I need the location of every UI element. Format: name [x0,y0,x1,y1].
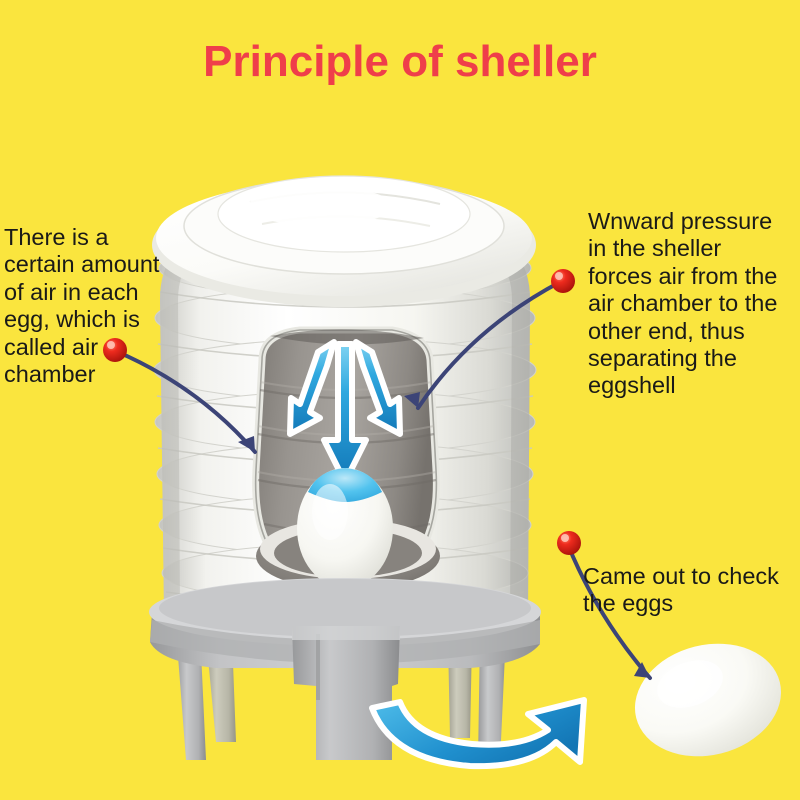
marker-downward-pressure [551,269,575,293]
peeled-egg [623,629,793,772]
callout-came-out: Came out to check the eggs [583,563,798,618]
marker-came-out [557,531,581,555]
sheller-lid [152,176,536,307]
poster-canvas: Principle of sheller There is a certain … [0,0,800,800]
page-title: Principle of sheller [0,38,800,86]
egg-in-chamber [297,468,393,588]
callout-downward-pressure: Wnward pressure in the sheller forces ai… [588,208,800,400]
sheller-illustration [0,0,800,800]
callout-air-chamber: There is a certain amount of air in each… [4,224,204,388]
egg-ejection-swoosh-arrow [372,700,584,766]
